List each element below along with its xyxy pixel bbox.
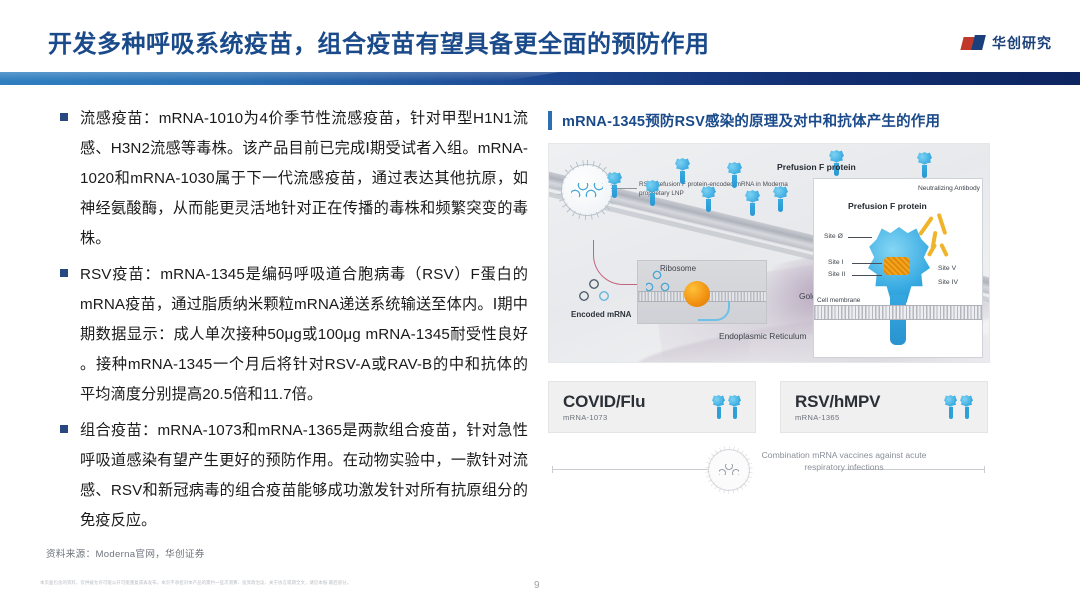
brand-logo: 华创研究 [962, 33, 1052, 53]
nascent-peptide-icon [698, 301, 730, 321]
f-protein-icon [701, 186, 716, 212]
f-protein-icon [675, 158, 690, 184]
caption-tick-right [984, 466, 985, 473]
lnp-particle-icon [561, 164, 613, 216]
f-protein-icon [917, 152, 932, 178]
caption-line-left [552, 469, 712, 470]
logo-cube-icon [962, 35, 986, 51]
site-label-4: Site IV [938, 279, 958, 286]
spike-protein-icon [712, 395, 725, 419]
list-item: RSV疫苗：mRNA-1345是编码呼吸道合胞病毒（RSV）F蛋白的mRNA疫苗… [48, 260, 528, 410]
card-rsv-hmpv: RSV/hMPV mRNA-1365 [780, 381, 988, 433]
caption-tick-left [552, 466, 553, 473]
page-title: 开发多种呼吸系统疫苗，组合疫苗有望具备更全面的预防作用 [48, 24, 710, 59]
header-accent-bar [0, 72, 1080, 85]
panel-header: mRNA-1345预防RSV感染的原理及对中和抗体产生的作用 [548, 110, 1040, 131]
bullet-square-icon [60, 269, 68, 277]
card-code: mRNA-1073 [563, 413, 645, 422]
combination-vaccine-cards: COVID/Flu mRNA-1073 RSV/hMPV mRNA-1365 [548, 381, 988, 433]
inset-cell-membrane-icon [814, 305, 982, 320]
neutralizing-antibody-label: Neutralizing Antibody [918, 185, 980, 193]
inset-title: Prefusion F protein [848, 201, 927, 212]
encoded-mrna-label: Encoded mRNA [571, 310, 631, 320]
list-item: 组合疫苗：mRNA-1073和mRNA-1365是两款组合疫苗，针对急性呼吸道感… [48, 416, 528, 536]
mrna-mechanism-diagram: RSV prefusion F protein-encoded mRNA in … [548, 143, 990, 363]
f-protein-icon [645, 180, 660, 206]
hmpv-f-protein-icon [960, 395, 973, 419]
ha-protein-icon [728, 395, 741, 419]
bullet-square-icon [60, 113, 68, 121]
bullet-text: 流感疫苗：mRNA-1010为4价季节性流感疫苗，针对甲型H1N1流感、H3N2… [80, 104, 528, 254]
disclaimer-text: 本页面包含的资料，仅供被允许可能公开可能重复或再发布。本页不承担对本产品的需约一… [40, 580, 520, 586]
site-label-3: Site V [938, 265, 956, 272]
encoded-mrna-icon [579, 270, 613, 304]
card-protein-icons [944, 395, 973, 419]
card-code: mRNA-1365 [795, 413, 880, 422]
inset-cell-membrane-label: Cell membrane [817, 297, 860, 305]
site-label-1: Site I [828, 259, 844, 266]
bullet-square-icon [60, 425, 68, 433]
f-protein-icon [607, 172, 622, 198]
slide: 开发多种呼吸系统疫苗，组合疫苗有望具备更全面的预防作用 华创研究 流感疫苗：mR… [0, 0, 1080, 607]
panel-title: mRNA-1345预防RSV感染的原理及对中和抗体产生的作用 [562, 110, 940, 131]
site-leader-line [848, 237, 872, 238]
slide-header: 开发多种呼吸系统疫苗，组合疫苗有望具备更全面的预防作用 华创研究 [0, 0, 1080, 86]
f-protein-icon [727, 162, 742, 188]
bullet-list: 流感疫苗：mRNA-1010为4价季节性流感疫苗，针对甲型H1N1流感、H3N2… [48, 104, 528, 542]
ribosome-inset: Ribosome [637, 260, 767, 324]
mrna-strand-icon [646, 269, 672, 291]
antigenic-site-core-icon [884, 257, 910, 275]
combination-caption-text: Combination mRNA vaccines against acute … [754, 449, 934, 473]
mrna-strand-icon [571, 183, 603, 197]
f-protein-icon [773, 186, 788, 212]
combination-caption-block: Combination mRNA vaccines against acute … [548, 445, 988, 507]
card-title: COVID/Flu [563, 392, 645, 411]
card-title: RSV/hMPV [795, 392, 880, 411]
bullet-text: RSV疫苗：mRNA-1345是编码呼吸道合胞病毒（RSV）F蛋白的mRNA疫苗… [80, 260, 528, 410]
logo-text: 华创研究 [992, 33, 1052, 53]
site-label-0: Site Ø [824, 233, 843, 240]
card-text-group: RSV/hMPV mRNA-1365 [795, 392, 880, 422]
endoplasmic-reticulum-label: Endoplasmic Reticulum [719, 332, 807, 342]
figure-panel: mRNA-1345预防RSV感染的原理及对中和抗体产生的作用 RSV prefu… [548, 110, 1040, 507]
source-note: 资料来源：Moderna官网，华创证券 [46, 546, 205, 560]
site-leader-line [852, 263, 882, 264]
panel-accent-bar [548, 111, 552, 130]
prefusion-f-protein-label: Prefusion F protein [777, 162, 856, 173]
card-protein-icons [712, 395, 741, 419]
page-number: 9 [534, 580, 540, 591]
list-item: 流感疫苗：mRNA-1010为4价季节性流感疫苗，针对甲型H1N1流感、H3N2… [48, 104, 528, 254]
card-text-group: COVID/Flu mRNA-1073 [563, 392, 645, 422]
lnp-particle-icon [708, 449, 750, 491]
f-protein-icon [745, 190, 760, 216]
card-covid-flu: COVID/Flu mRNA-1073 [548, 381, 756, 433]
bullet-text: 组合疫苗：mRNA-1073和mRNA-1365是两款组合疫苗，针对急性呼吸道感… [80, 416, 528, 536]
prefusion-antibody-inset: Prefusion F protein Neutralizing Antibod… [813, 178, 983, 358]
site-label-2: Site II [828, 271, 845, 278]
antibody-icon [922, 213, 964, 259]
site-leader-line [852, 275, 882, 276]
rsv-f-protein-icon [944, 395, 957, 419]
f-protein-stem-icon [890, 295, 906, 345]
